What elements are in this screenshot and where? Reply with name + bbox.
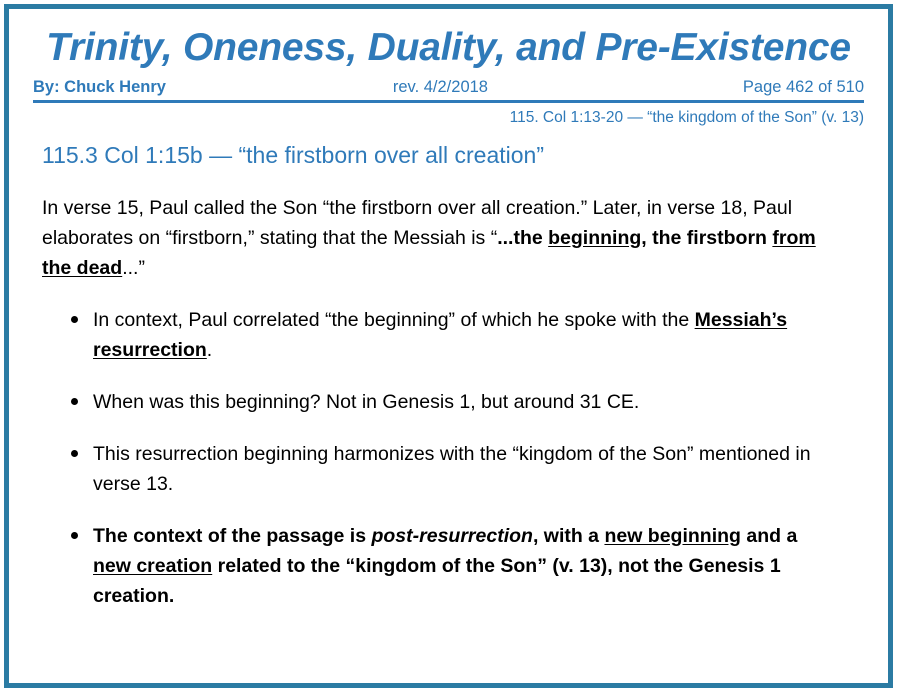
byline-author: By: Chuck Henry: [33, 78, 166, 97]
page-frame: Trinity, Oneness, Duality, and Pre-Exist…: [4, 4, 893, 688]
bullet-dot-icon: [71, 532, 78, 539]
bullet-2-text: When was this beginning? Not in Genesis …: [93, 391, 639, 413]
paragraph-text-bold-mid: the firstborn: [647, 227, 773, 249]
list-item: This resurrection beginning harmonizes w…: [33, 439, 864, 499]
bullet-4-term-new-creation: new creation: [93, 555, 212, 577]
paragraph-text-bold-lead: ...the: [497, 227, 548, 249]
list-item: In context, Paul correlated “the beginni…: [33, 305, 864, 365]
bullet-4-term-post-resurrection: post-resurrection: [371, 525, 532, 547]
bullet-4-text-2: , with a: [533, 525, 605, 547]
paragraph-term-beginning: beginning,: [548, 227, 647, 249]
bullet-4-term-new-beginning: new beginning: [604, 525, 741, 547]
bullet-list: In context, Paul correlated “the beginni…: [33, 305, 864, 611]
bullet-4-text-3: and a: [741, 525, 797, 547]
body-paragraph: In verse 15, Paul called the Son “the fi…: [42, 193, 846, 283]
page-number-label: Page 462 of 510: [743, 78, 864, 97]
list-item: The context of the passage is post-resur…: [33, 521, 864, 611]
list-item: When was this beginning? Not in Genesis …: [33, 387, 864, 417]
byline-row: By: Chuck Henry rev. 4/2/2018 Page 462 o…: [33, 71, 864, 100]
breadcrumb: 115. Col 1:13-20 — “the kingdom of the S…: [33, 103, 864, 127]
document-title: Trinity, Oneness, Duality, and Pre-Exist…: [33, 25, 864, 71]
paragraph-text-tail: ...”: [122, 257, 145, 279]
bullet-dot-icon: [71, 316, 78, 323]
bullet-3-text: This resurrection beginning harmonizes w…: [93, 443, 811, 495]
page-content: Trinity, Oneness, Duality, and Pre-Exist…: [9, 9, 888, 683]
bullet-dot-icon: [71, 450, 78, 457]
section-heading: 115.3 Col 1:15b — “the firstborn over al…: [42, 141, 864, 169]
bullet-1-text: In context, Paul correlated “the beginni…: [93, 309, 695, 331]
bullet-1-text-tail: .: [207, 339, 212, 361]
bullet-4-text: The context of the passage is: [93, 525, 371, 547]
byline-revision: rev. 4/2/2018: [166, 78, 743, 97]
bullet-dot-icon: [71, 398, 78, 405]
